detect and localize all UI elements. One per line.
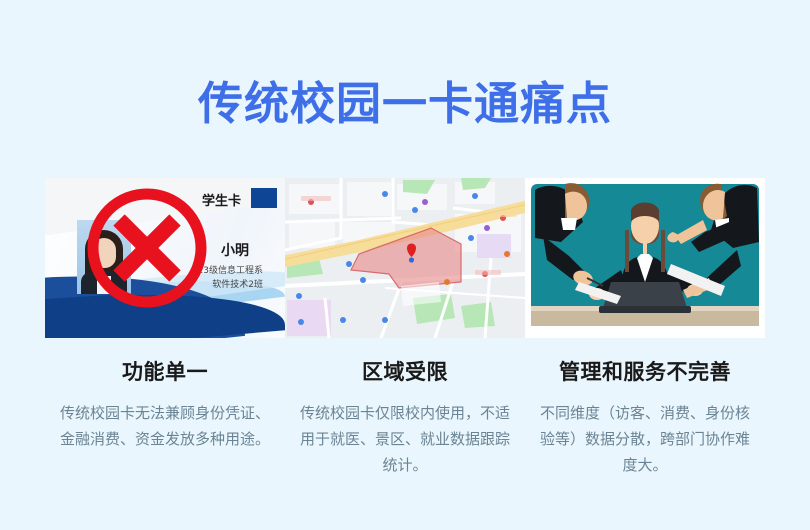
column-management-service: 管理和服务不完善 不同维度（访客、消费、身份核验等）数据分散，跨部门协作难度大。 bbox=[525, 178, 765, 478]
column-function-single: 学生卡 小明 23级信息工程系 软件技术2班 bbox=[45, 178, 285, 452]
body-area-limited: 传统校园卡仅限校内使用，不适用于就医、景区、就业数据跟踪统计。 bbox=[285, 400, 525, 478]
column-area-limited: 区域受限 传统校园卡仅限校内使用，不适用于就医、景区、就业数据跟踪统计。 bbox=[285, 178, 525, 478]
office-graphic bbox=[525, 178, 765, 338]
thumbnail-student-card[interactable]: 学生卡 小明 23级信息工程系 软件技术2班 bbox=[45, 178, 285, 338]
map-svg bbox=[285, 178, 525, 338]
page-title: 传统校园一卡通痛点 bbox=[0, 78, 810, 130]
thumbnail-map[interactable] bbox=[285, 178, 525, 338]
body-function-single: 传统校园卡无法兼顾身份凭证、金融消费、资金发放多种用途。 bbox=[45, 400, 285, 452]
thumbnail-office-illustration[interactable] bbox=[525, 178, 765, 338]
heading-function-single: 功能单一 bbox=[45, 356, 285, 386]
body-management-service: 不同维度（访客、消费、身份核验等）数据分散，跨部门协作难度大。 bbox=[525, 400, 765, 478]
office-illustration-svg bbox=[525, 178, 765, 338]
heading-management-service: 管理和服务不完善 bbox=[525, 356, 765, 386]
heading-area-limited: 区域受限 bbox=[285, 356, 525, 386]
columns-container: 学生卡 小明 23级信息工程系 软件技术2班 bbox=[0, 178, 810, 498]
map-graphic bbox=[285, 178, 525, 338]
student-name: 小明 bbox=[221, 240, 249, 260]
school-logo-icon bbox=[251, 188, 277, 208]
red-cross-circle-icon bbox=[85, 186, 209, 310]
slide-root: 传统校园一卡通痛点 学生卡 bbox=[0, 0, 810, 530]
